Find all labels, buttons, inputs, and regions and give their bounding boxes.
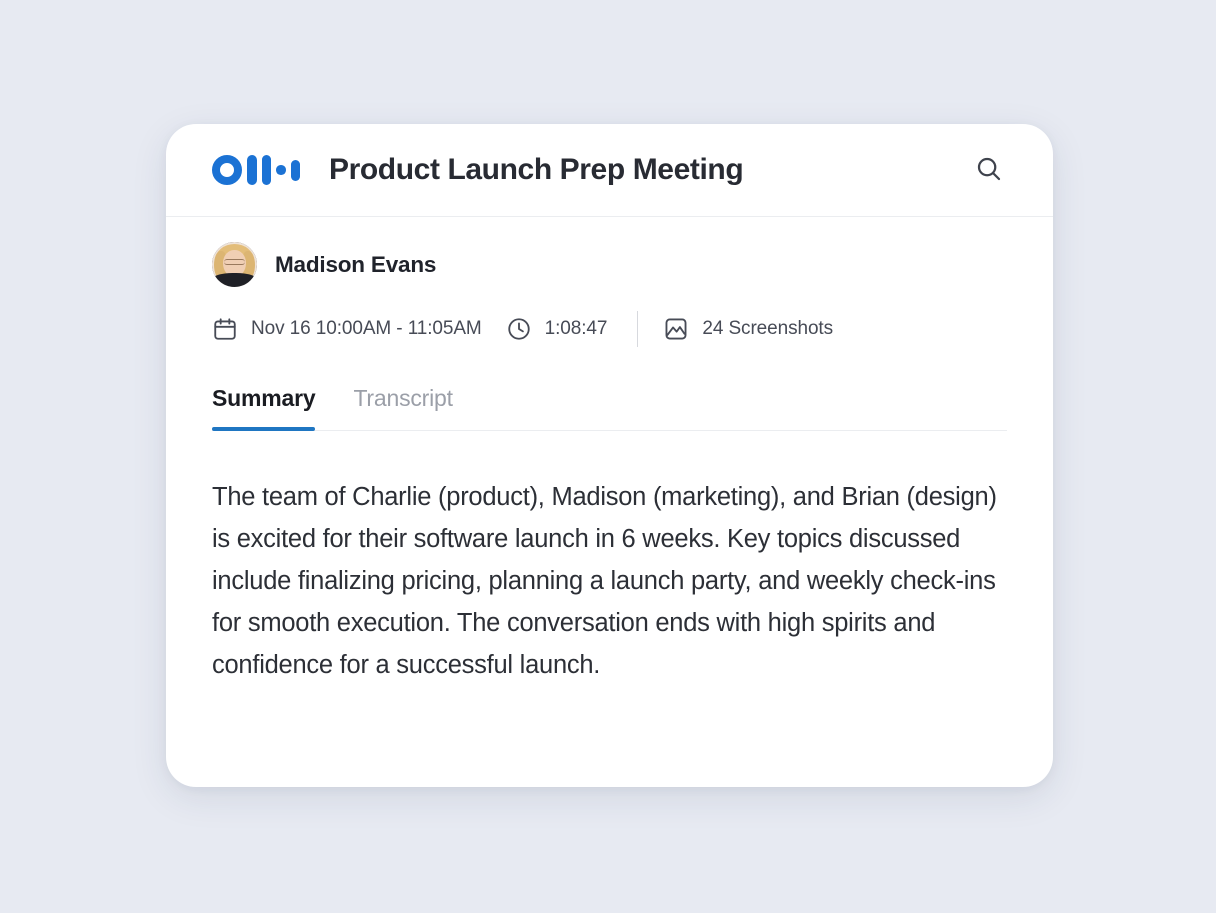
meeting-card: Product Launch Prep Meeting [166, 124, 1053, 787]
search-button[interactable] [969, 150, 1009, 190]
clock-icon [506, 316, 532, 342]
meta-screenshots-value: 24 Screenshots [702, 318, 833, 340]
tab-transcript[interactable]: Transcript [353, 385, 452, 430]
page-root: Product Launch Prep Meeting [0, 0, 1216, 913]
meta-divider [637, 311, 638, 347]
meeting-metadata: Nov 16 10:00AM - 11:05AM 1:08:47 [212, 287, 1007, 347]
meta-screenshots: 24 Screenshots [663, 316, 833, 342]
tab-bar: Summary Transcript [212, 385, 1007, 431]
summary-body: The team of Charlie (product), Madison (… [212, 476, 1002, 686]
page-title: Product Launch Prep Meeting [329, 153, 743, 187]
meta-duration-value: 1:08:47 [545, 318, 608, 340]
otter-ai-logo [212, 155, 300, 185]
logo-dot-icon [276, 165, 286, 175]
logo-ring-icon [212, 155, 242, 185]
meta-date-value: Nov 16 10:00AM - 11:05AM [251, 318, 482, 340]
owner-row: Madison Evans [212, 217, 1007, 287]
meta-duration: 1:08:47 [506, 316, 608, 342]
owner-name: Madison Evans [275, 252, 436, 278]
card-body: Madison Evans Nov 16 10:00AM - 11:05AM [166, 217, 1053, 686]
meta-date: Nov 16 10:00AM - 11:05AM [212, 316, 482, 342]
avatar [212, 242, 257, 287]
tab-summary[interactable]: Summary [212, 385, 315, 430]
calendar-icon [212, 316, 238, 342]
search-icon [974, 154, 1004, 187]
image-icon [663, 316, 689, 342]
logo-bar-3-icon [291, 160, 301, 181]
card-header: Product Launch Prep Meeting [166, 124, 1053, 217]
logo-bar-1-icon [247, 155, 257, 185]
logo-bar-2-icon [262, 155, 272, 185]
